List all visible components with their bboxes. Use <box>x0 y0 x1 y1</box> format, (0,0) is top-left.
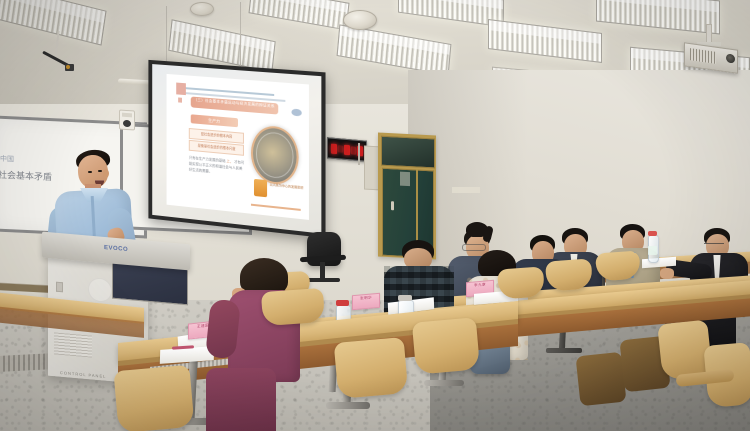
bottle-cap <box>648 231 657 236</box>
whiteboard-note: 社会基本矛盾 <box>0 171 52 182</box>
name-card-text: 李九章 <box>467 281 493 290</box>
slide-section-label: 生产力 <box>190 114 238 127</box>
office-chair-base <box>306 278 340 282</box>
desk-foot <box>326 402 370 409</box>
classroom-chair[interactable] <box>334 337 409 399</box>
attendee-hand <box>660 268 674 279</box>
slide-photo-circle <box>251 124 298 186</box>
classroom-door[interactable] <box>378 132 436 259</box>
slide-decor-square <box>176 83 186 95</box>
door-handle[interactable] <box>391 201 394 210</box>
slide-bullet-text: 是衡量社会进步的根本尺度 <box>190 141 243 154</box>
slide-badge <box>254 179 267 198</box>
attendee-legs <box>206 368 276 431</box>
slide-body-text: 只有在生产力发展的基础 上， 才有可能实现公平正义的和谐社会与人民美好生活的需要… <box>189 154 245 177</box>
bottle-label <box>648 246 657 255</box>
desk-foot <box>424 380 464 386</box>
presenter-ear <box>103 169 109 178</box>
attendee-glasses-icon <box>704 243 724 248</box>
screen-surface: （三）社会基本矛盾运动与经济发展的辩证关系 生产力 是社会进步的根本内容 是衡量… <box>152 64 321 233</box>
name-card-text: 张明华 <box>353 294 379 303</box>
wall-speaker <box>119 109 135 130</box>
wall-notice <box>452 187 480 193</box>
classroom-chair[interactable] <box>576 352 627 407</box>
whiteboard-note: 中国 <box>0 155 14 165</box>
door-transom-window <box>381 136 435 169</box>
classroom-chair[interactable] <box>113 365 194 431</box>
lectern-button[interactable] <box>56 282 63 293</box>
attendee-glasses-icon <box>462 244 486 251</box>
classroom-photo: 中国 社会基本矛盾 生产力 生产关系 经济基础 上层建筑 <box>0 0 750 431</box>
presenter-eye <box>88 171 92 173</box>
bottle-cap <box>398 295 412 301</box>
projection-screen: （三）社会基本矛盾运动与经济发展的辩证关系 生产力 是社会进步的根本内容 是衡量… <box>148 60 325 238</box>
slide-badge-note: 以人民为中心的发展思想 <box>270 182 305 191</box>
classroom-chair[interactable] <box>261 288 325 326</box>
lectern-vent <box>54 332 92 357</box>
classroom-chair[interactable] <box>412 317 480 374</box>
led-sign-bracket <box>358 143 360 165</box>
slide-photo-ring <box>256 131 294 179</box>
desk-foot <box>546 348 582 353</box>
projector-lens-icon <box>726 53 735 63</box>
slide-footer-bar <box>251 204 300 211</box>
led-sign <box>327 137 367 161</box>
slide-body-accent: 上， <box>226 159 233 164</box>
slide-decor-cloud <box>291 109 301 117</box>
presentation-slide: （三）社会基本矛盾运动与经济发展的辩证关系 生产力 是社会进步的根本内容 是衡量… <box>167 74 309 219</box>
camera-lens-icon <box>66 65 70 69</box>
presenter-eye <box>98 170 102 172</box>
bottle-cap <box>336 300 349 306</box>
slide-section-text: 生产力 <box>190 114 238 127</box>
slide-decor-square-small <box>178 97 182 103</box>
door-sign <box>400 172 410 187</box>
screen-cord <box>166 6 167 68</box>
name-card: 张明华 <box>352 293 380 310</box>
